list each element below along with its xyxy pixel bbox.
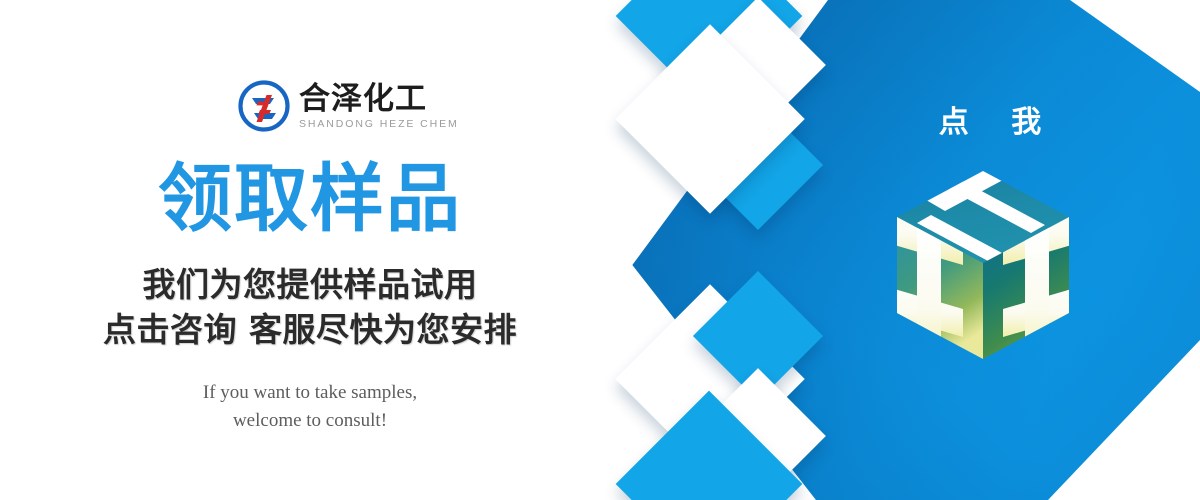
english-caption-line-1: If you want to take samples, <box>0 383 620 402</box>
brand-logo-lockup: 合泽化工 SHANDONG HEZE CHEM <box>238 80 459 132</box>
isometric-cube-icon[interactable] <box>883 165 1083 365</box>
brand-name-en: SHANDONG HEZE CHEM <box>299 119 459 130</box>
english-caption-line-2: welcome to consult! <box>0 411 620 430</box>
subheadline-line-2: 点击咨询 客服尽快为您安排 <box>0 313 620 346</box>
click-me-label[interactable]: 点 我 <box>890 105 1090 141</box>
subheadline-line-1: 我们为您提供样品试用 <box>0 268 620 301</box>
right-decorative-panel[interactable]: 点 我 <box>600 0 1200 500</box>
left-content-area: 合泽化工 SHANDONG HEZE CHEM 领取样品 我们为您提供样品试用 … <box>0 0 620 500</box>
page-title: 领取样品 <box>0 162 620 236</box>
brand-name-cn: 合泽化工 <box>299 83 459 116</box>
circular-monogram-logo-icon <box>238 80 290 132</box>
brand-name-block: 合泽化工 SHANDONG HEZE CHEM <box>299 83 459 130</box>
promo-banner: 合泽化工 SHANDONG HEZE CHEM 领取样品 我们为您提供样品试用 … <box>0 0 1200 500</box>
